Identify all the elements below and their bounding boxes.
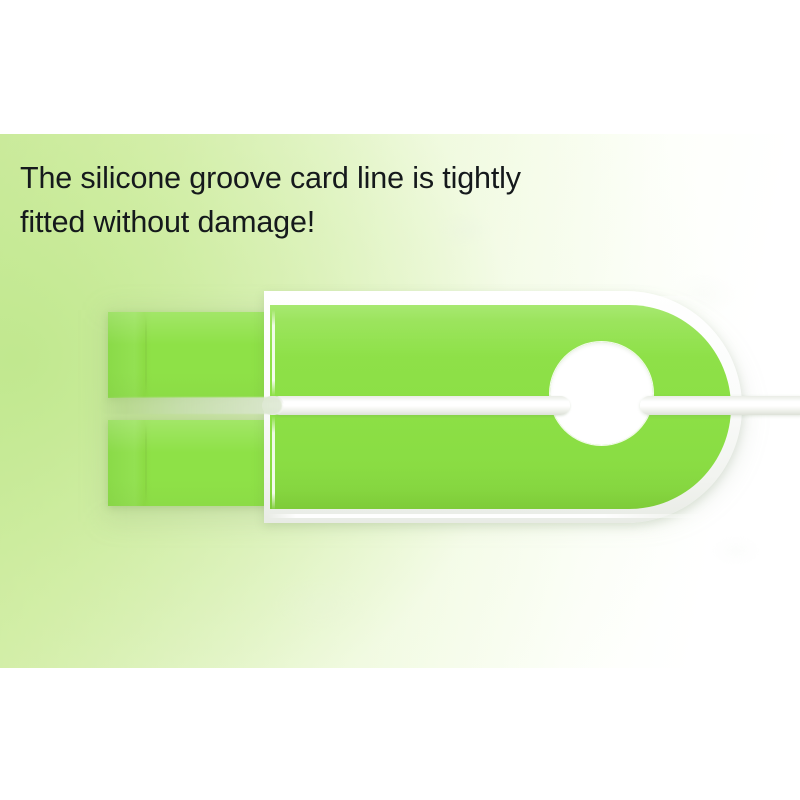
photo-band: The silicone groove card line is tightly…	[0, 134, 800, 668]
product-image-canvas: The silicone groove card line is tightly…	[0, 0, 800, 800]
headline-text: The silicone groove card line is tightly…	[20, 156, 660, 244]
